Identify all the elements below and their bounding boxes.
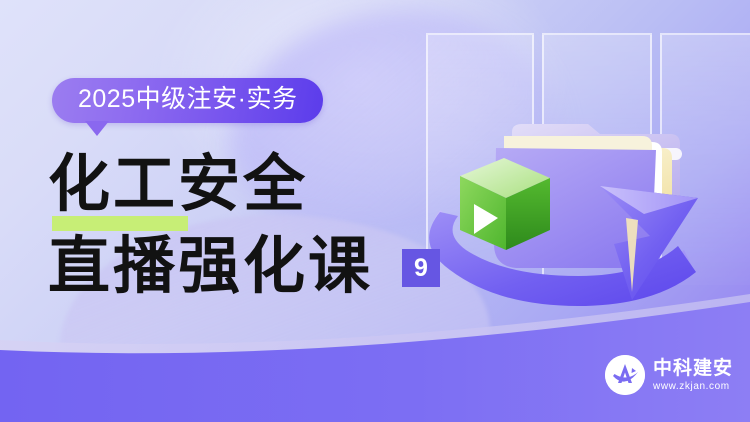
course-tag-pill: 2025中级注安·实务 xyxy=(52,78,323,123)
course-banner: 2025中级注安·实务 化工安全 直播强化课 9 中科建安 xyxy=(0,0,750,422)
brand-logo: 中科建安 www.zkjan.com xyxy=(605,355,733,395)
zkjan-circle-logo-icon xyxy=(605,355,645,395)
headline-line-2: 直播强化课 xyxy=(48,230,373,302)
headline-line-1: 化工安全 xyxy=(48,148,373,220)
brand-url: www.zkjan.com xyxy=(653,380,733,393)
episode-badge: 9 xyxy=(402,249,440,287)
episode-badge-number: 9 xyxy=(414,256,428,281)
course-tag-label: 2025中级注安·实务 xyxy=(78,87,297,112)
course-tag-tail xyxy=(85,121,109,136)
brand-name: 中科建安 xyxy=(653,358,733,380)
headline-row-1: 化工安全 xyxy=(48,148,373,224)
course-tag: 2025中级注安·实务 xyxy=(52,78,323,123)
headline: 化工安全 直播强化课 9 xyxy=(48,148,373,306)
brand-logo-texts: 中科建安 www.zkjan.com xyxy=(653,358,733,393)
headline-row-2: 直播强化课 9 xyxy=(48,230,373,306)
